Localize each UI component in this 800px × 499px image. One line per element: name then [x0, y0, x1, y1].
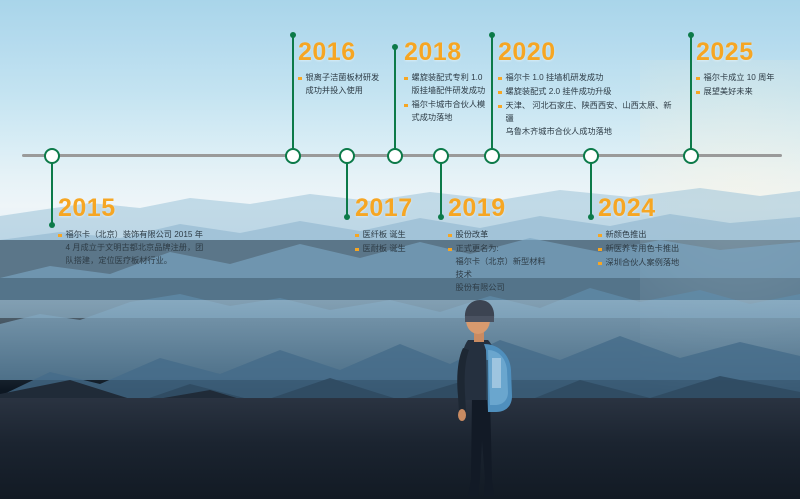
bullet-item: 医耐板 诞生: [355, 242, 440, 255]
bullet-dot-icon: [498, 91, 502, 95]
bullet-item: 股份改革: [448, 228, 553, 241]
event-card-2018[interactable]: 2018 螺旋装配式专利 1.0 版挂墙配件研发成功 福尔卡城市合伙人模 式成功…: [404, 40, 499, 125]
event-year-2024: 2024: [598, 196, 708, 221]
event-bullets-2025: 福尔卡成立 10 周年 展望美好未来: [696, 71, 796, 98]
node-circle-2018: [387, 148, 403, 164]
bullet-text: 福尔卡成立 10 周年: [704, 71, 775, 84]
node-stem-2017: [346, 162, 349, 218]
bullet-item: 银离子洁菌板材研发 成功并投入使用: [298, 71, 393, 97]
bullet-dot-icon: [696, 77, 700, 81]
bullet-item: 螺旋装配式专利 1.0 版挂墙配件研发成功: [404, 71, 499, 97]
bullet-text: 天津、 河北石家庄、陕西西安、山西太原、新疆 乌鲁木齐城市合伙人成功落地: [506, 99, 679, 138]
bullet-text: 螺旋装配式 2.0 挂件成功升级: [506, 85, 612, 98]
node-endpoint-2016: [290, 32, 296, 38]
node-endpoint-2024: [588, 214, 594, 220]
event-year-2018: 2018: [404, 40, 499, 65]
bullet-dot-icon: [404, 104, 408, 108]
bullet-dot-icon: [696, 91, 700, 95]
bullet-text: 福尔卡 1.0 挂墙机研发成功: [506, 71, 604, 84]
bullet-text: 银离子洁菌板材研发 成功并投入使用: [306, 71, 380, 97]
event-bullets-2015: 福尔卡（北京）装饰有限公司 2015 年 4 月成立于文明古都北京品牌注册，团 …: [58, 228, 238, 267]
timeline-infographic: 2015 福尔卡（北京）装饰有限公司 2015 年 4 月成立于文明古都北京品牌…: [0, 0, 800, 499]
node-circle-2025: [683, 148, 699, 164]
bullet-dot-icon: [598, 262, 602, 266]
event-year-2020: 2020: [498, 40, 678, 65]
bullet-text: 新医养专用色卡推出: [606, 242, 680, 255]
bullet-dot-icon: [498, 105, 502, 109]
event-card-2025[interactable]: 2025 福尔卡成立 10 周年 展望美好未来: [696, 40, 796, 99]
bullet-dot-icon: [298, 77, 302, 81]
bullet-text: 医纤板 诞生: [363, 228, 406, 241]
bullet-item: 新医养专用色卡推出: [598, 242, 708, 255]
event-bullets-2018: 螺旋装配式专利 1.0 版挂墙配件研发成功 福尔卡城市合伙人模 式成功落地: [404, 71, 499, 124]
bullet-item: 天津、 河北石家庄、陕西西安、山西太原、新疆 乌鲁木齐城市合伙人成功落地: [498, 99, 678, 138]
bullet-dot-icon: [498, 77, 502, 81]
event-card-2020[interactable]: 2020 福尔卡 1.0 挂墙机研发成功 螺旋装配式 2.0 挂件成功升级 天津…: [498, 40, 678, 139]
bullet-text: 股份改革: [456, 228, 489, 241]
bullet-item: 深圳合伙人案例落地: [598, 256, 708, 269]
event-year-2019: 2019: [448, 196, 553, 221]
bullet-dot-icon: [58, 234, 62, 238]
bullet-text: 福尔卡（北京）装饰有限公司 2015 年 4 月成立于文明古都北京品牌注册，团 …: [66, 228, 204, 267]
bullet-dot-icon: [448, 248, 452, 252]
timeline-overlay: 2015 福尔卡（北京）装饰有限公司 2015 年 4 月成立于文明古都北京品牌…: [0, 0, 800, 499]
bullet-dot-icon: [598, 248, 602, 252]
node-endpoint-2020: [489, 32, 495, 38]
event-bullets-2020: 福尔卡 1.0 挂墙机研发成功 螺旋装配式 2.0 挂件成功升级 天津、 河北石…: [498, 71, 678, 138]
bullet-item: 福尔卡成立 10 周年: [696, 71, 796, 84]
node-endpoint-2017: [344, 214, 350, 220]
bullet-item: 正式更名为: 福尔卡（北京）新型材料技术 股份有限公司: [448, 242, 553, 294]
node-stem-2015: [51, 162, 54, 226]
bullet-dot-icon: [598, 234, 602, 238]
event-card-2016[interactable]: 2016 银离子洁菌板材研发 成功并投入使用: [298, 40, 393, 98]
node-stem-2016: [292, 35, 295, 150]
node-stem-2019: [440, 162, 443, 218]
event-year-2017: 2017: [355, 196, 440, 221]
bullet-item: 新颜色推出: [598, 228, 708, 241]
bullet-item: 福尔卡（北京）装饰有限公司 2015 年 4 月成立于文明古都北京品牌注册，团 …: [58, 228, 238, 267]
event-bullets-2019: 股份改革 正式更名为: 福尔卡（北京）新型材料技术 股份有限公司: [448, 228, 553, 294]
bullet-item: 福尔卡 1.0 挂墙机研发成功: [498, 71, 678, 84]
bullet-item: 医纤板 诞生: [355, 228, 440, 241]
node-circle-2020: [484, 148, 500, 164]
bullet-text: 深圳合伙人案例落地: [606, 256, 680, 269]
event-card-2024[interactable]: 2024 新颜色推出 新医养专用色卡推出 深圳合伙人案例落地: [598, 196, 708, 270]
event-card-2015[interactable]: 2015 福尔卡（北京）装饰有限公司 2015 年 4 月成立于文明古都北京品牌…: [58, 196, 238, 268]
bullet-text: 展望美好未来: [704, 85, 753, 98]
bullet-text: 新颜色推出: [606, 228, 647, 241]
bullet-item: 展望美好未来: [696, 85, 796, 98]
event-year-2025: 2025: [696, 40, 796, 65]
event-card-2017[interactable]: 2017 医纤板 诞生 医耐板 诞生: [355, 196, 440, 256]
node-stem-2025: [690, 35, 693, 150]
node-endpoint-2015: [49, 222, 55, 228]
event-year-2016: 2016: [298, 40, 393, 65]
event-bullets-2017: 医纤板 诞生 医耐板 诞生: [355, 228, 440, 255]
node-circle-2016: [285, 148, 301, 164]
bullet-text: 正式更名为: 福尔卡（北京）新型材料技术 股份有限公司: [456, 242, 554, 294]
bullet-text: 医耐板 诞生: [363, 242, 406, 255]
bullet-text: 福尔卡城市合伙人模 式成功落地: [412, 98, 486, 124]
bullet-text: 螺旋装配式专利 1.0 版挂墙配件研发成功: [412, 71, 486, 97]
event-card-2019[interactable]: 2019 股份改革 正式更名为: 福尔卡（北京）新型材料技术 股份有限公司: [448, 196, 553, 295]
bullet-item: 螺旋装配式 2.0 挂件成功升级: [498, 85, 678, 98]
node-endpoint-2025: [688, 32, 694, 38]
bullet-dot-icon: [355, 234, 359, 238]
bullet-dot-icon: [404, 77, 408, 81]
bullet-item: 福尔卡城市合伙人模 式成功落地: [404, 98, 499, 124]
bullet-dot-icon: [448, 234, 452, 238]
event-bullets-2024: 新颜色推出 新医养专用色卡推出 深圳合伙人案例落地: [598, 228, 708, 269]
event-year-2015: 2015: [58, 196, 238, 221]
event-bullets-2016: 银离子洁菌板材研发 成功并投入使用: [298, 71, 393, 97]
node-stem-2018: [394, 47, 397, 150]
bullet-dot-icon: [355, 248, 359, 252]
node-stem-2024: [590, 162, 593, 218]
